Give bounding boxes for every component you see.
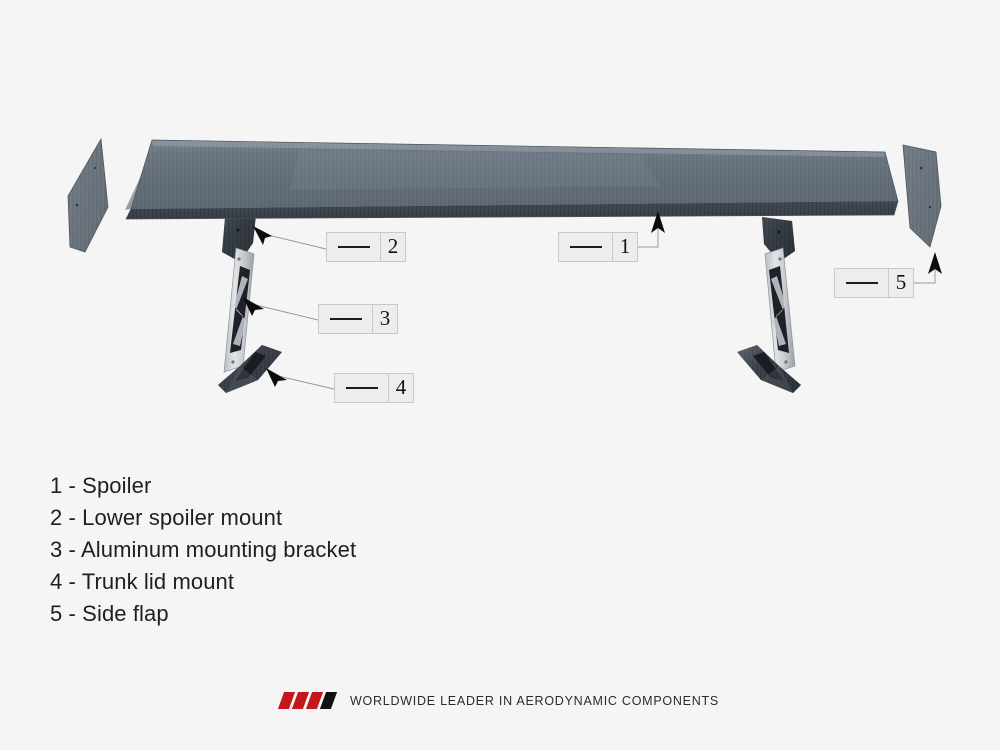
diagram-canvas: 1 2 3 4 5 1 - Spoiler 2 - Lower spoiler … <box>0 0 1000 750</box>
callout-number-2: 2 <box>380 233 405 261</box>
legend-item-5: 5 - Side flap <box>50 598 356 630</box>
callout-dash-2 <box>327 233 380 261</box>
callout-number-4: 4 <box>388 374 413 402</box>
component-legend: 1 - Spoiler 2 - Lower spoiler mount 3 - … <box>50 470 356 630</box>
legend-item-2: 2 - Lower spoiler mount <box>50 502 356 534</box>
spoiler-wing <box>125 140 898 219</box>
callout-dash-5 <box>835 269 888 297</box>
footer-branding: WORLDWIDE LEADER IN AERODYNAMIC COMPONEN… <box>0 692 1000 709</box>
side-flap-right <box>903 145 941 247</box>
callout-box-3[interactable]: 3 <box>318 304 398 334</box>
legend-item-3: 3 - Aluminum mounting bracket <box>50 534 356 566</box>
callout-dash-1 <box>559 233 612 261</box>
legend-item-4: 4 - Trunk lid mount <box>50 566 356 598</box>
callout-number-1: 1 <box>612 233 637 261</box>
footer-tagline: WORLDWIDE LEADER IN AERODYNAMIC COMPONEN… <box>350 694 719 708</box>
legend-item-1: 1 - Spoiler <box>50 470 356 502</box>
logo-bar-4 <box>320 692 337 709</box>
mount-assembly-right <box>737 217 801 393</box>
callout-box-1[interactable]: 1 <box>558 232 638 262</box>
callout-number-5: 5 <box>888 269 913 297</box>
callout-box-5[interactable]: 5 <box>834 268 914 298</box>
callout-number-3: 3 <box>372 305 397 333</box>
brand-logo-icon <box>281 692 337 709</box>
callout-dash-4 <box>335 374 388 402</box>
callout-box-4[interactable]: 4 <box>334 373 414 403</box>
callout-dash-3 <box>319 305 372 333</box>
side-flap-left <box>68 139 108 252</box>
product-illustration <box>0 0 1000 750</box>
callout-box-2[interactable]: 2 <box>326 232 406 262</box>
